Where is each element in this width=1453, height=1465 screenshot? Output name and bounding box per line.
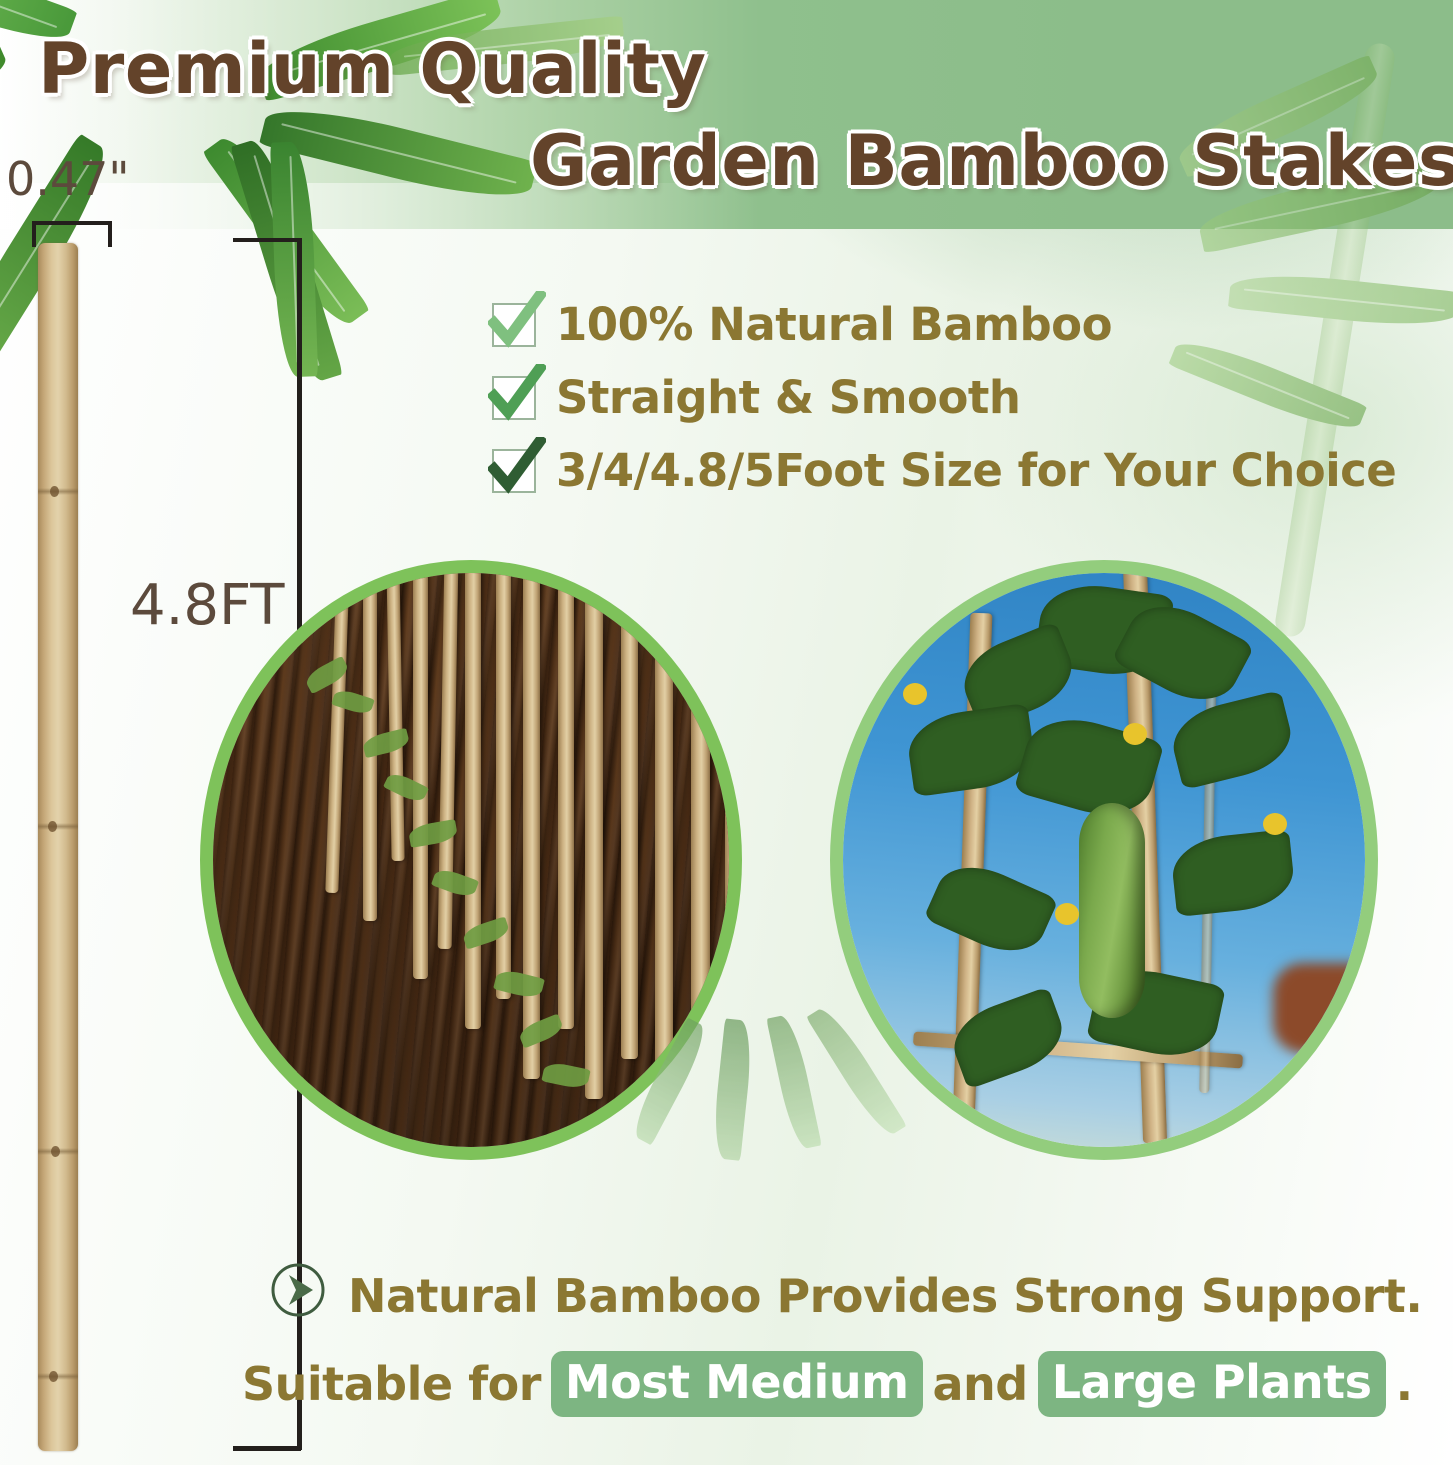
title-line-1: Premium Quality <box>38 28 707 110</box>
checkbox-checked-icon <box>492 303 536 347</box>
feature-label: 100% Natural Bamboo <box>556 298 1112 351</box>
caption-suffix: . <box>1396 1357 1413 1411</box>
title-line-2: Garden Bamboo Stakes <box>530 120 1453 202</box>
feature-item: Straight & Smooth <box>492 361 1442 434</box>
title-block: Premium Quality Garden Bamboo Stakes <box>0 0 1453 229</box>
bamboo-sprig-decoration <box>700 950 960 1180</box>
width-dimension-label: 0.47" <box>6 152 130 206</box>
feature-item: 100% Natural Bamboo <box>492 288 1442 361</box>
caption-line-1: Natural Bamboo Provides Strong Support. <box>270 1262 1440 1329</box>
checkbox-checked-icon <box>492 376 536 420</box>
bamboo-stake-product <box>38 243 78 1451</box>
caption-line-2: Suitable for Most Medium and Large Plant… <box>242 1351 1440 1417</box>
feature-label: 3/4/4.8/5Foot Size for Your Choice <box>556 444 1396 497</box>
checkbox-checked-icon <box>492 449 536 493</box>
bottom-caption: Natural Bamboo Provides Strong Support. … <box>250 1262 1440 1417</box>
height-bracket-foot <box>233 1446 301 1451</box>
caption-middle: and <box>933 1357 1028 1411</box>
product-infographic: Premium Quality Garden Bamboo Stakes 0.4… <box>0 0 1453 1465</box>
feature-item: 3/4/4.8/5Foot Size for Your Choice <box>492 434 1442 507</box>
cucumber-fruit <box>1079 803 1145 1018</box>
highlight-most-medium: Most Medium <box>551 1351 923 1417</box>
height-bracket-top <box>233 238 301 242</box>
highlight-large-plants: Large Plants <box>1038 1351 1386 1417</box>
caption-line-1-text: Natural Bamboo Provides Strong Support. <box>348 1269 1422 1323</box>
caption-prefix: Suitable for <box>242 1357 541 1411</box>
feature-list: 100% Natural Bamboo Straight & Smooth 3/… <box>492 288 1442 507</box>
feature-label: Straight & Smooth <box>556 371 1020 424</box>
circle-chevron-right-icon <box>270 1262 326 1329</box>
